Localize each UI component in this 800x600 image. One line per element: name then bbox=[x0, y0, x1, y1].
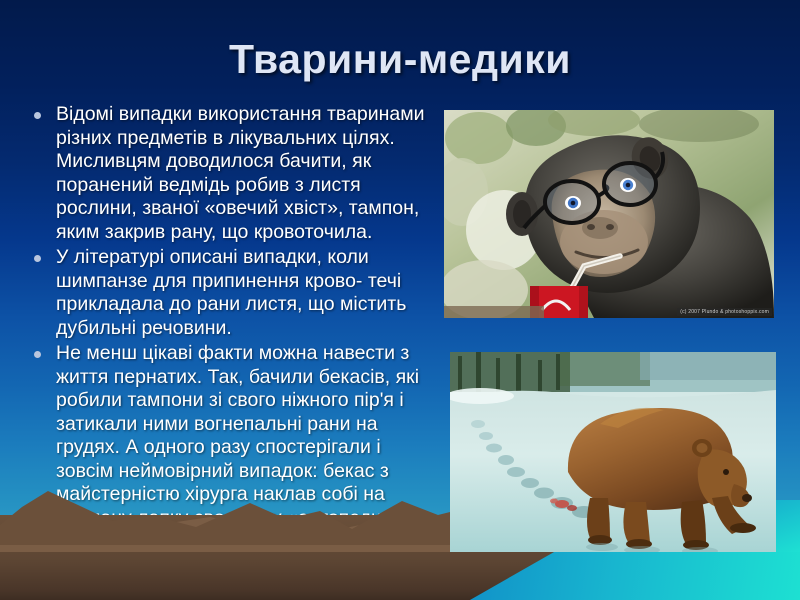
bullet-text: У літературі описані випадки, коли шимпа… bbox=[48, 246, 430, 340]
page-title: Тварини-медики bbox=[0, 36, 800, 83]
photo-watermark: (c) 2007 Plundo & photoshoppix.com bbox=[677, 308, 772, 316]
bullet-dot-icon bbox=[22, 342, 48, 358]
chimpanzee-image-art bbox=[444, 110, 774, 318]
bullet-dot-icon bbox=[22, 246, 48, 262]
bear-image-art bbox=[450, 352, 776, 552]
bullet-dot-icon bbox=[22, 103, 48, 119]
chimpanzee-with-glasses-photo: (c) 2007 Plundo & photoshoppix.com bbox=[444, 110, 774, 318]
list-item: У літературі описані випадки, коли шимпа… bbox=[22, 246, 430, 340]
list-item: Відомі випадки використання тваринами рі… bbox=[22, 103, 430, 244]
brown-bear-in-snow-photo bbox=[450, 352, 776, 552]
bullet-text: Відомі випадки використання тваринами рі… bbox=[48, 103, 430, 244]
presentation-slide: Тварини-медики Відомі випадки використан… bbox=[0, 0, 800, 600]
